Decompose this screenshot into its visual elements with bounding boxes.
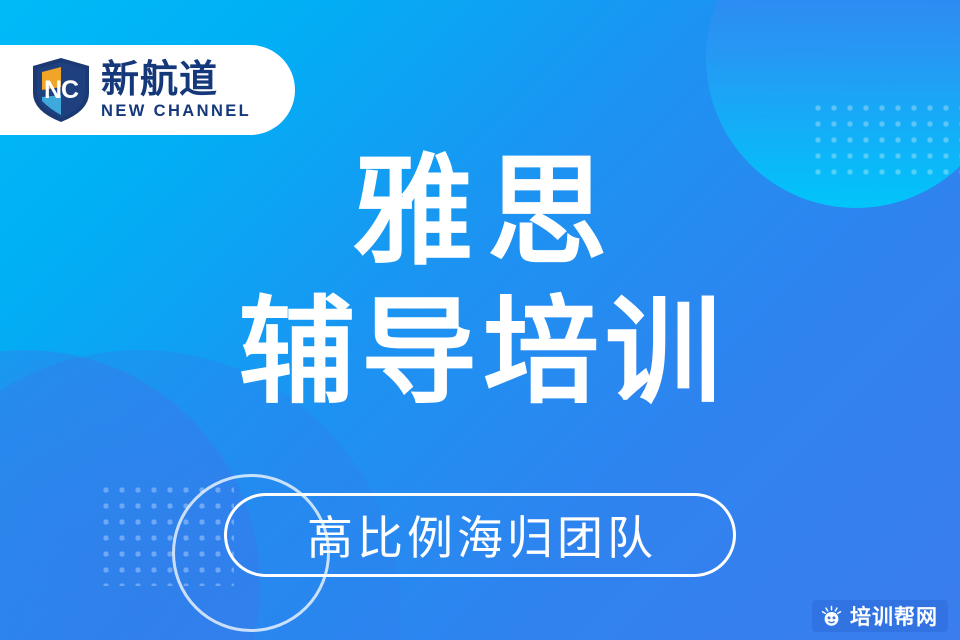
decorative-dot-grid-bottom-left (98, 482, 234, 586)
watermark: 培训帮网 (812, 600, 948, 632)
shield-icon: NC (30, 57, 92, 123)
subtitle-text: 高比例海归团队 (303, 502, 657, 568)
headline-line-2: 辅导培训 (0, 294, 960, 410)
promo-banner: NC 新航道 NEW CHANNEL 雅思 辅导培训 高比例海归团队 (0, 0, 960, 640)
headline-block: 雅思 辅导培训 (0, 152, 960, 410)
brand-logo-plate: NC 新航道 NEW CHANNEL (0, 45, 295, 135)
headline-line-1: 雅思 (0, 152, 960, 272)
watermark-text: 培训帮网 (850, 601, 938, 631)
brand-name-en: NEW CHANNEL (101, 103, 251, 120)
subtitle-pill: 高比例海归团队 (224, 493, 736, 577)
brand-wordmark: 新航道 NEW CHANNEL (101, 61, 251, 120)
svg-text:NC: NC (44, 76, 79, 104)
sun-face-icon (820, 605, 843, 628)
brand-name-cn: 新航道 (101, 61, 251, 99)
